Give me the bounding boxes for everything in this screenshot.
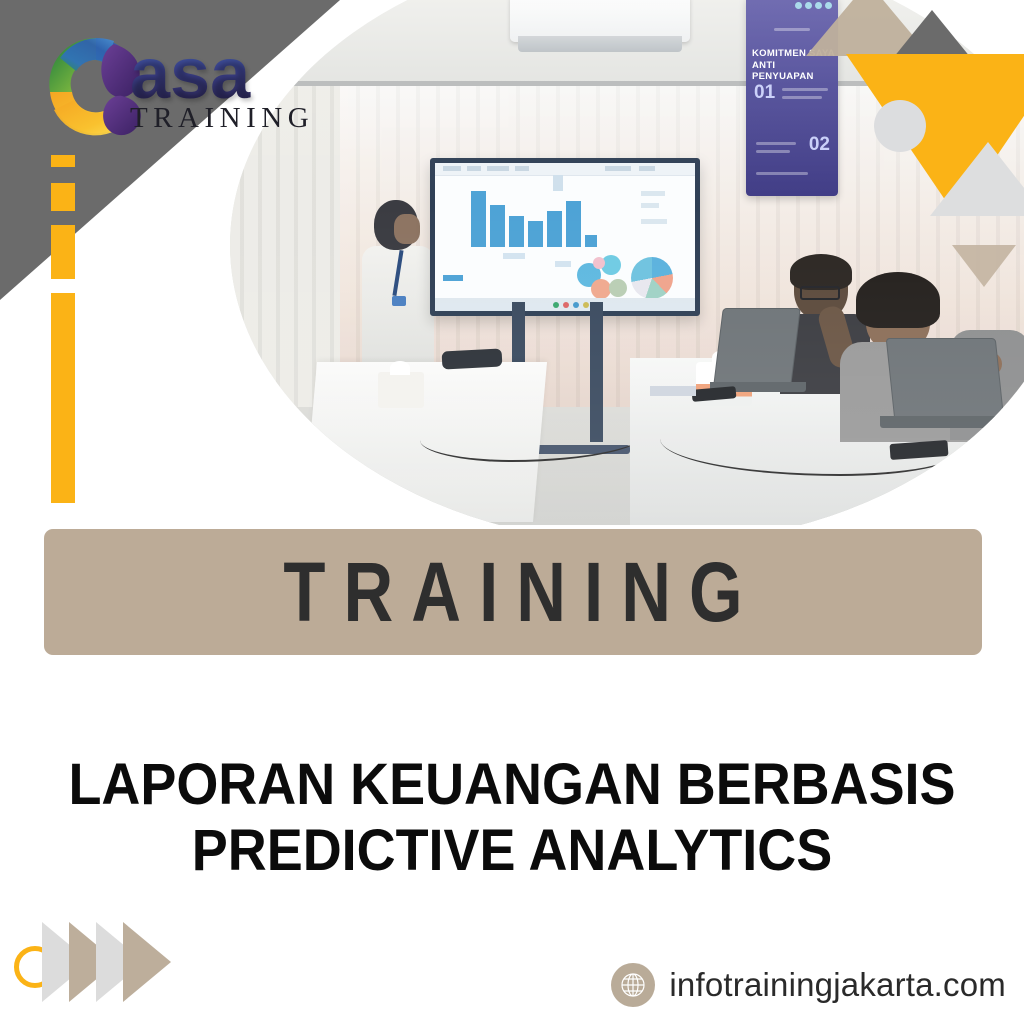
chevron-4-icon [123,922,171,1002]
air-conditioner [510,0,690,42]
laptop-2 [880,338,1006,448]
accent-bar-segment-4 [51,293,75,503]
logo-wordmark: asa TRAINING [130,42,314,135]
logo-subtitle: TRAINING [130,102,314,135]
globe-icon [611,963,655,1007]
triangle-tan-down-icon [952,245,1016,287]
bag-on-table [442,348,503,369]
display-screen [435,163,695,311]
logo-name: asa [130,42,314,106]
training-banner: TRAINING [44,529,982,655]
website-url: infotrainingjakarta.com [669,966,1006,1004]
poster-number-02: 02 [809,134,830,156]
circle-gray-icon [874,100,926,152]
papers [650,386,696,396]
training-banner-label: TRAINING [265,550,760,634]
tissue-box-left [378,372,424,408]
accent-bar-segment-1 [51,155,75,167]
page-title-line-2: PREDICTIVE ANALYTICS [36,818,988,884]
poster-title-line2: ANTI PENYUAPAN [752,60,836,82]
poster-canvas: KOMITMEN SAYA ANTI PENYUAPAN 01 02 [0,0,1024,1024]
triangle-white-up-icon [930,142,1024,216]
brand-logo[interactable]: asa TRAINING [30,18,330,148]
website-footer[interactable]: infotrainingjakarta.com [611,963,1006,1007]
poster-number-01: 01 [754,82,775,104]
accent-bar-segment-3 [51,225,75,279]
page-title-line-1: LAPORAN KEUANGAN BERBASIS [36,752,988,818]
accent-bar-segment-2 [51,183,75,211]
presentation-display [430,158,700,316]
page-title: LAPORAN KEUANGAN BERBASIS PREDICTIVE ANA… [0,752,1024,884]
